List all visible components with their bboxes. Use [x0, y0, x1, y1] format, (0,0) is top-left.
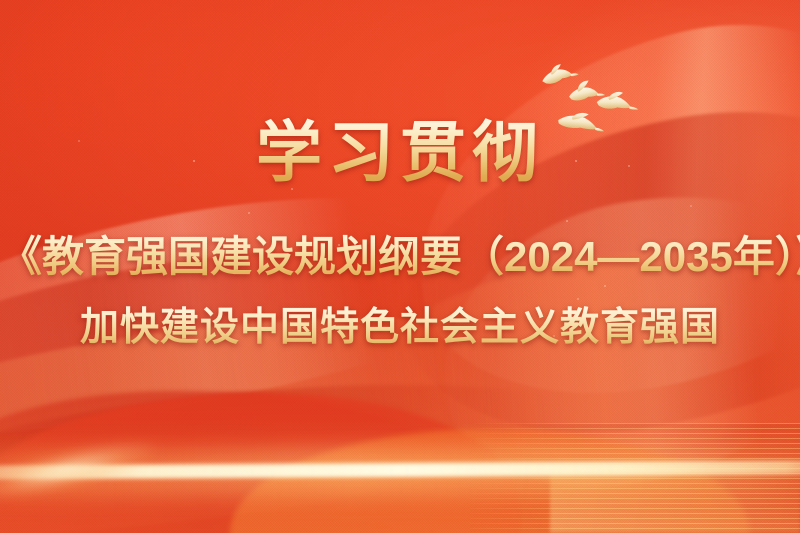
noise-grain-overlay-fine [0, 0, 800, 533]
poster-canvas: 学习贯彻 《教育强国建设规划纲要（2024—2035年）》 加快建设中国特色社会… [0, 0, 800, 533]
